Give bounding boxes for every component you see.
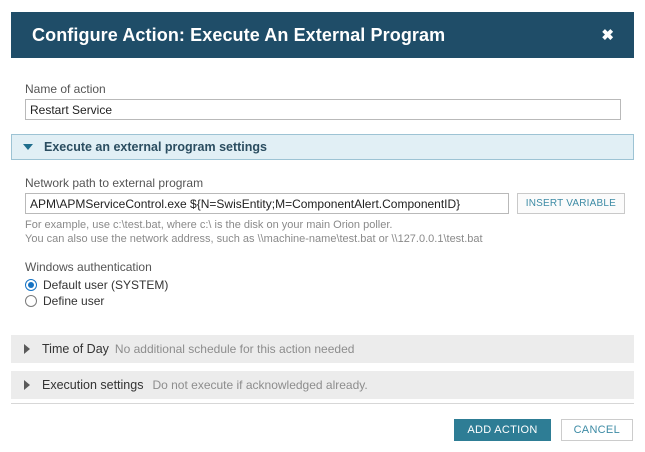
dialog-footer: ADD ACTION CANCEL — [11, 410, 634, 450]
network-path-input[interactable] — [25, 193, 509, 214]
radio-label-define-user: Define user — [43, 294, 104, 308]
section-title-execution-settings: Execution settings — [42, 378, 143, 392]
name-of-action-input[interactable] — [25, 99, 621, 120]
cancel-button[interactable]: CANCEL — [561, 419, 633, 441]
dialog-content: Name of action Execute an external progr… — [0, 58, 645, 452]
close-icon[interactable]: ✖ — [598, 26, 617, 45]
radio-option-define-user[interactable]: Define user — [25, 294, 625, 308]
network-path-row: INSERT VARIABLE — [25, 193, 625, 214]
section-header-time-of-day[interactable]: Time of Day No additional schedule for t… — [11, 335, 634, 363]
radio-define-user-icon[interactable] — [25, 295, 37, 307]
radio-option-default-user[interactable]: Default user (SYSTEM) — [25, 278, 625, 292]
section-summary-time-of-day: No additional schedule for this action n… — [115, 342, 355, 356]
name-of-action-field-group: Name of action — [25, 82, 621, 120]
network-path-hint-line-2: You can also use the network address, su… — [25, 232, 625, 246]
name-of-action-label: Name of action — [25, 82, 621, 96]
configure-action-dialog: Configure Action: Execute An External Pr… — [0, 0, 645, 452]
section-header-external-program-settings[interactable]: Execute an external program settings — [11, 134, 634, 160]
network-path-label: Network path to external program — [25, 176, 625, 190]
windows-authentication-label: Windows authentication — [25, 260, 625, 274]
footer-divider — [11, 403, 634, 404]
dialog-titlebar: Configure Action: Execute An External Pr… — [11, 12, 634, 58]
network-path-hint-line-1: For example, use c:\test.bat, where c:\ … — [25, 218, 625, 232]
caret-right-icon — [24, 344, 30, 354]
radio-label-default-user: Default user (SYSTEM) — [43, 278, 168, 292]
section-summary-execution-settings: Do not execute if acknowledged already. — [152, 378, 367, 392]
dialog-title: Configure Action: Execute An External Pr… — [32, 25, 445, 46]
caret-down-icon — [23, 144, 33, 150]
section-title-external-program-settings: Execute an external program settings — [44, 140, 267, 154]
insert-variable-button[interactable]: INSERT VARIABLE — [517, 193, 625, 214]
section-title-time-of-day: Time of Day — [42, 342, 109, 356]
external-program-settings-body: Network path to external program INSERT … — [25, 176, 625, 308]
caret-right-icon — [24, 380, 30, 390]
radio-default-user-icon[interactable] — [25, 279, 37, 291]
add-action-button[interactable]: ADD ACTION — [454, 419, 550, 441]
section-header-execution-settings[interactable]: Execution settings Do not execute if ack… — [11, 371, 634, 399]
